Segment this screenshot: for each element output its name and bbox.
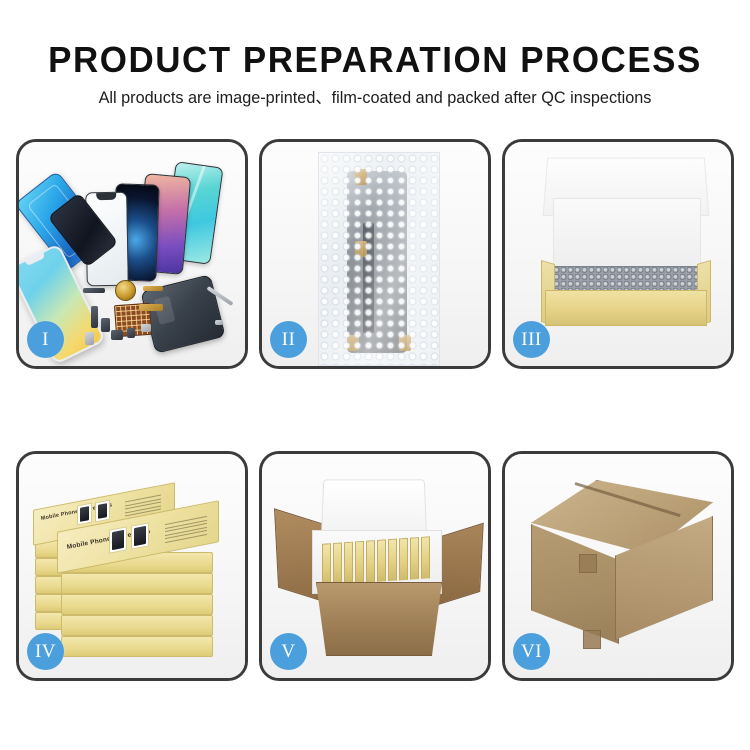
process-steps-grid: I II III bbox=[16, 139, 734, 681]
carton-tape-upper-icon bbox=[579, 554, 597, 573]
step-panel-5: V bbox=[259, 451, 491, 681]
box-print-thumb-rear-2 bbox=[95, 500, 110, 523]
gold-packs-group bbox=[322, 536, 430, 586]
box-print-thumb-front-2 bbox=[131, 522, 149, 549]
bubble-texture bbox=[319, 153, 439, 365]
step-panel-2: II bbox=[259, 139, 491, 369]
part-button-icon bbox=[127, 328, 135, 338]
box-print-thumb-rear-1 bbox=[77, 503, 92, 526]
box-print-thumb-front-1 bbox=[109, 526, 127, 553]
part-antenna-icon bbox=[91, 306, 98, 328]
step-badge-5: V bbox=[270, 633, 307, 670]
box-front-panel-icon bbox=[545, 290, 707, 326]
carton-tape-lower-icon bbox=[583, 630, 601, 649]
page-header: PRODUCT PREPARATION PROCESS All products… bbox=[0, 0, 750, 110]
box-back-wall-icon bbox=[553, 198, 701, 274]
stacked-box-front-2 bbox=[61, 573, 213, 594]
screw-icon bbox=[215, 320, 223, 325]
step-badge-3: III bbox=[513, 321, 550, 358]
speaker-coil-icon bbox=[115, 280, 136, 301]
part-camera-icon bbox=[111, 330, 123, 340]
stacked-box-front-3 bbox=[61, 594, 213, 615]
part-strip-icon bbox=[83, 288, 105, 293]
part-screw-plate-icon bbox=[141, 324, 151, 332]
stacked-box-front-5 bbox=[61, 636, 213, 657]
part-flex-connector-icon bbox=[139, 304, 163, 311]
part-sim-tray-icon bbox=[85, 332, 94, 345]
stacked-box-front-4 bbox=[61, 615, 213, 636]
step-panel-3: III bbox=[502, 139, 734, 369]
bubble-wrap-bag bbox=[318, 152, 440, 366]
step-badge-4: IV bbox=[27, 633, 64, 670]
page-title: PRODUCT PREPARATION PROCESS bbox=[11, 38, 739, 82]
part-flex-cable-icon bbox=[143, 286, 163, 291]
step-badge-1: I bbox=[27, 321, 64, 358]
step-panel-1: I bbox=[16, 139, 248, 369]
carton-body-icon bbox=[316, 582, 442, 656]
step-panel-4: Mobile Phone Spare Parts Mobile Phone Sp… bbox=[16, 451, 248, 681]
page-subtitle: All products are image-printed、film-coat… bbox=[6, 86, 745, 110]
step-badge-2: II bbox=[270, 321, 307, 358]
part-bracket-icon bbox=[101, 318, 110, 332]
step-badge-6: VI bbox=[513, 633, 550, 670]
step-panel-6: VI bbox=[502, 451, 734, 681]
